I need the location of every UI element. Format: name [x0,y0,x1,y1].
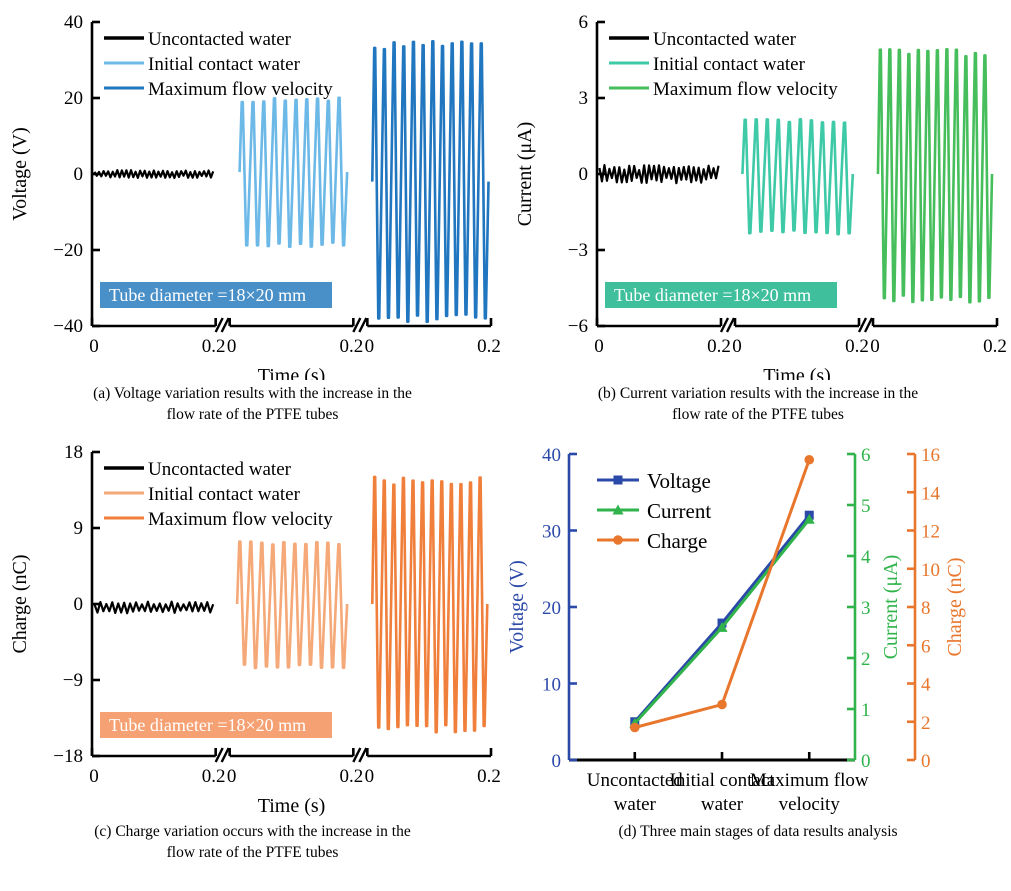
y-tick-label: 0 [74,594,84,615]
y-tick-label: 40 [64,12,83,33]
y-tick-label: −6 [568,316,588,337]
trace-uncontacted [599,165,718,183]
tube-diameter-badge-label: Tube diameter =18×20 mm [109,285,306,305]
panel-b-caption-line1: (b) Current variation results with the i… [505,384,1011,405]
charge-tick-label: 4 [921,675,931,696]
category-label-line2: water [701,794,744,815]
panel-d-caption: (d) Three main stages of data results an… [505,822,1011,843]
x-tick-label: 0.2 [845,336,869,357]
y-tick-label: 0 [579,164,589,185]
charge-tick-label: 0 [921,751,931,772]
legend-label: Maximum flow velocity [653,79,838,100]
current-tick-label: 3 [861,598,871,619]
panel-a-voltage: −40−2002040Voltage (V)00.200.200.2Time (… [0,0,505,440]
x-tick-label: 0.2 [477,336,501,357]
tube-diameter-badge-label: Tube diameter =18×20 mm [109,715,306,735]
panel-b-chart: −6−3036Current (μA)00.200.200.2Time (s)U… [505,0,1011,380]
y-tick-label: −3 [568,240,588,261]
series-charge [630,455,814,732]
panel-b-caption: (b) Current variation results with the i… [505,384,1011,426]
panel-y-axis-title: Current (μA) [514,122,536,227]
panel-d-summary: 010203040Voltage (V)0123456Current (μA)0… [505,430,1011,891]
x-tick-label: 0 [227,336,237,357]
panel-a-caption-line1: (a) Voltage variation results with the i… [0,384,505,405]
voltage-axis-title: Voltage (V) [506,560,528,654]
panel-a-caption: (a) Voltage variation results with the i… [0,384,505,426]
current-tick-label: 6 [861,445,871,466]
category-label-line1: Maximum flow [750,770,869,791]
x-tick-label: 0 [594,336,604,357]
panel-c-charge: −18−90918Charge (nC)00.200.200.2Time (s)… [0,430,505,891]
category-label-line2: velocity [779,794,841,815]
voltage-tick-label: 40 [542,445,561,466]
y-tick-label: 20 [64,88,83,109]
legend-marker [613,535,623,545]
trace-initial-contact [742,119,852,234]
x-tick-label: 0.2 [202,766,226,787]
voltage-tick-label: 20 [542,598,561,619]
charge-tick-label: 2 [921,713,931,734]
trace-initial-contact [237,542,347,668]
legend-label: Maximum flow velocity [148,509,333,530]
data-point-charge [630,723,640,733]
panel-c-caption-line1: (c) Charge variation occurs with the inc… [0,822,505,843]
x-tick-label: 0 [89,766,99,787]
y-tick-label: −9 [63,670,83,691]
x-tick-label: 0.2 [707,336,731,357]
category-label-line2: water [614,794,657,815]
panel-a-chart: −40−2002040Voltage (V)00.200.200.2Time (… [0,0,505,380]
y-tick-label: 0 [74,164,84,185]
charge-tick-label: 10 [921,560,940,581]
x-tick-label: 0 [89,336,99,357]
charge-tick-label: 14 [921,483,941,504]
current-axis-title: Current (μA) [880,555,902,660]
trace-max-flow [372,477,487,732]
legend-label: Initial contact water [148,484,301,505]
current-tick-label: 2 [861,649,871,670]
panel-d-chart: 010203040Voltage (V)0123456Current (μA)0… [505,430,1011,818]
legend-label: Initial contact water [653,54,806,75]
y-tick-label: 3 [579,88,589,109]
current-tick-label: 5 [861,496,871,517]
x-tick-label: 0.2 [477,766,501,787]
panel-b-current: −6−3036Current (μA)00.200.200.2Time (s)U… [505,0,1011,440]
charge-tick-label: 6 [921,636,931,657]
legend-label: Initial contact water [148,54,301,75]
panel-b-caption-line2: flow rate of the PTFE tubes [505,405,1011,426]
data-point-charge [717,700,727,710]
panel-d-caption-line1: (d) Three main stages of data results an… [505,822,1011,843]
trace-uncontacted [94,170,213,178]
panel-y-axis-title: Charge (nC) [9,554,31,653]
trace-uncontacted [94,602,213,614]
panel-a-caption-line2: flow rate of the PTFE tubes [0,405,505,426]
panel-x-axis-title: Time (s) [258,795,326,817]
trace-initial-contact [240,98,348,247]
x-tick-label: 0.2 [983,336,1007,357]
legend-entry-charge: Charge [597,529,707,553]
x-tick-label: 0 [365,336,375,357]
panel-x-axis-title: Time (s) [258,365,326,380]
charge-axis-title: Charge (nC) [944,557,966,656]
panel-c-chart: −18−90918Charge (nC)00.200.200.2Time (s)… [0,430,505,818]
legend-marker [614,476,623,485]
y-tick-label: 6 [579,12,589,33]
voltage-tick-label: 10 [542,675,561,696]
current-tick-label: 1 [861,700,871,721]
legend-label: Charge [647,529,707,553]
legend-label: Uncontacted water [148,459,292,480]
data-point-charge [804,455,814,465]
panel-x-axis-title: Time (s) [763,365,831,380]
current-tick-label: 0 [861,751,871,772]
trace-max-flow [878,49,992,302]
y-tick-label: 18 [64,442,83,463]
charge-tick-label: 12 [921,522,940,543]
y-tick-label: −20 [53,240,83,261]
panel-c-caption-line2: flow rate of the PTFE tubes [0,843,505,864]
legend-entry-voltage: Voltage [597,469,711,493]
x-tick-label: 0 [870,336,880,357]
panel-c-caption: (c) Charge variation occurs with the inc… [0,822,505,864]
legend-label: Current [647,499,711,523]
y-tick-label: −18 [53,746,83,767]
tube-diameter-badge-label: Tube diameter =18×20 mm [614,285,811,305]
current-tick-label: 4 [861,547,871,568]
x-tick-label: 0 [732,336,742,357]
legend-label: Uncontacted water [653,29,797,50]
legend-label: Uncontacted water [148,29,292,50]
y-tick-label: 9 [74,518,84,539]
legend-label: Maximum flow velocity [148,79,333,100]
legend-entry-current: Current [597,499,711,523]
x-tick-label: 0 [365,766,375,787]
charge-tick-label: 16 [921,445,940,466]
voltage-tick-label: 30 [542,522,561,543]
charge-tick-label: 8 [921,598,931,619]
x-tick-label: 0.2 [339,766,363,787]
x-tick-label: 0.2 [202,336,226,357]
y-tick-label: −40 [53,316,83,337]
voltage-tick-label: 0 [552,751,562,772]
trace-max-flow [372,41,488,321]
x-tick-label: 0 [227,766,237,787]
panel-y-axis-title: Voltage (V) [9,127,31,221]
figure-root: −40−2002040Voltage (V)00.200.200.2Time (… [0,0,1011,891]
x-tick-label: 0.2 [339,336,363,357]
legend-label: Voltage [647,469,711,493]
